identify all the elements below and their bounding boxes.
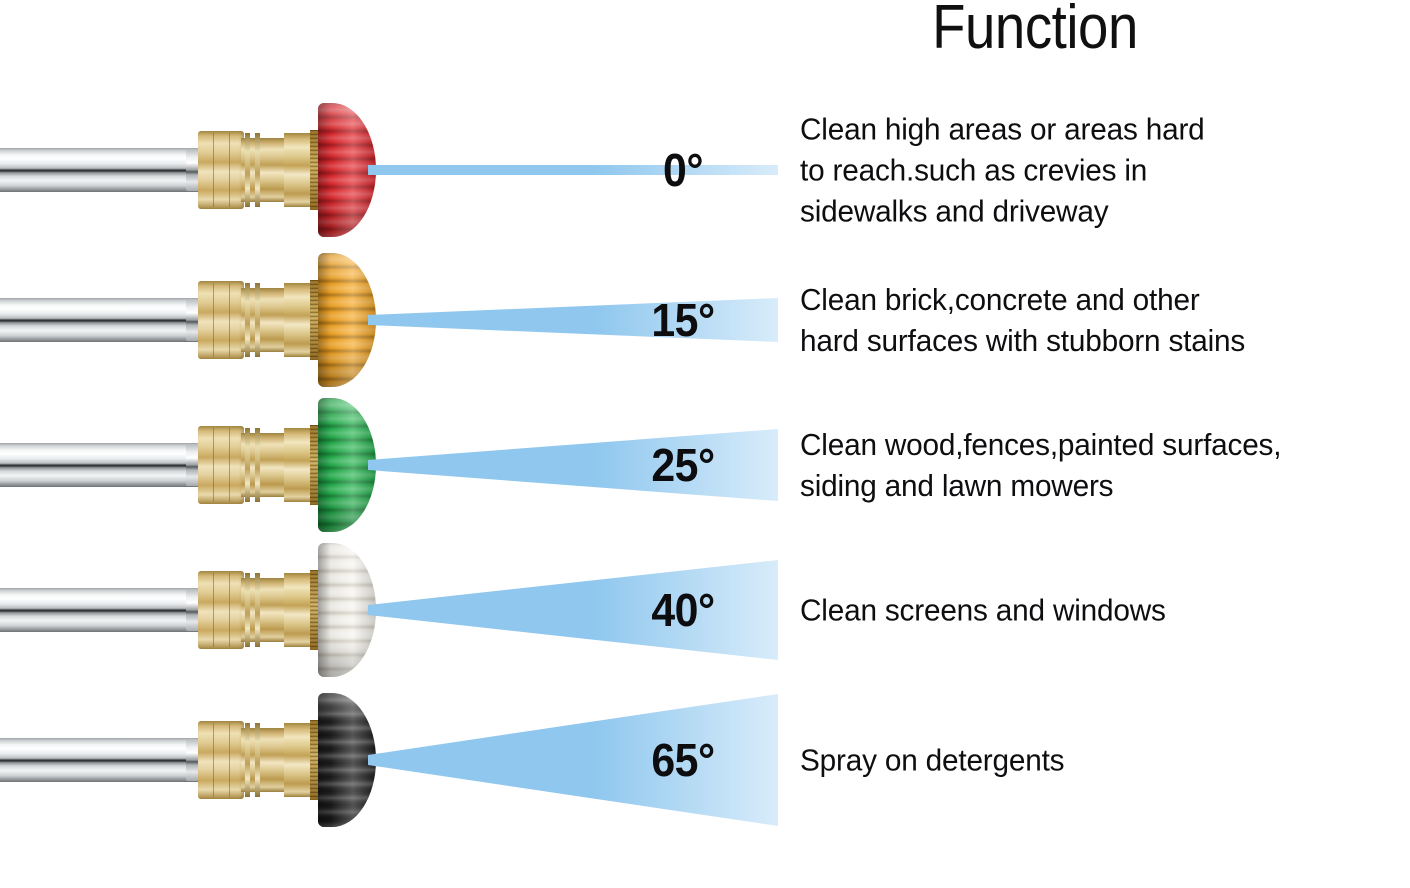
description-line: hard surfaces with stubborn stains [800,320,1376,361]
nozzle-row-green: 25° Clean wood,fences,painted surfaces,s… [0,390,1410,540]
lance-wand [0,443,200,487]
brass-hex-nut [198,281,244,359]
brass-ring-b [255,283,260,357]
nozzle-row-black: 65° Spray on detergents [0,685,1410,835]
lance-wand [0,148,200,192]
description-line: Clean wood,fences,painted surfaces, [800,424,1376,465]
description-line: Spray on detergents [800,740,1376,781]
lance-wand [0,588,200,632]
brass-ring-a [245,283,250,357]
brass-coupler [241,288,286,352]
brass-ring-a [245,573,250,647]
description-text: Clean wood,fences,painted surfaces,sidin… [800,424,1376,506]
angle-label: 25° [632,438,734,492]
nozzle-row-orange: 15° Clean brick,concrete and otherhard s… [0,245,1410,395]
brass-ring-b [255,573,260,647]
description-text: Spray on detergents [800,740,1376,781]
brass-hex-nut [198,721,244,799]
brass-coupler [241,578,286,642]
page-title: Function [921,0,1150,60]
nozzle-row-white: 40° Clean screens and windows [0,535,1410,685]
description-line: sidewalks and driveway [800,191,1376,232]
description-line: Clean screens and windows [800,590,1376,631]
brass-ring-a [245,723,250,797]
description-line: Clean brick,concrete and other [800,279,1376,320]
brass-coupler [241,728,286,792]
brass-coupler [241,138,286,202]
brass-ring-b [255,723,260,797]
brass-ring-b [255,428,260,502]
brass-ring-a [245,133,250,207]
lance-wand [0,738,200,782]
lance-wand [0,298,200,342]
angle-label: 15° [632,293,734,347]
brass-hex-nut [198,571,244,649]
angle-label: 65° [632,733,734,787]
description-line: siding and lawn mowers [800,465,1376,506]
description-text: Clean high areas or areas hardto reach.s… [800,109,1376,232]
description-text: Clean screens and windows [800,590,1376,631]
angle-label: 40° [632,583,734,637]
nozzle-row-red: 0° Clean high areas or areas hardto reac… [0,95,1410,245]
brass-hex-nut [198,131,244,209]
brass-hex-nut [198,426,244,504]
brass-ring-a [245,428,250,502]
brass-ring-b [255,133,260,207]
function-chart: Function 0° Clean high areas or areas ha… [0,0,1410,888]
description-text: Clean brick,concrete and otherhard surfa… [800,279,1376,361]
description-line: Clean high areas or areas hard [800,109,1376,150]
brass-coupler [241,433,286,497]
description-line: to reach.such as crevies in [800,150,1376,191]
angle-label: 0° [632,143,734,197]
